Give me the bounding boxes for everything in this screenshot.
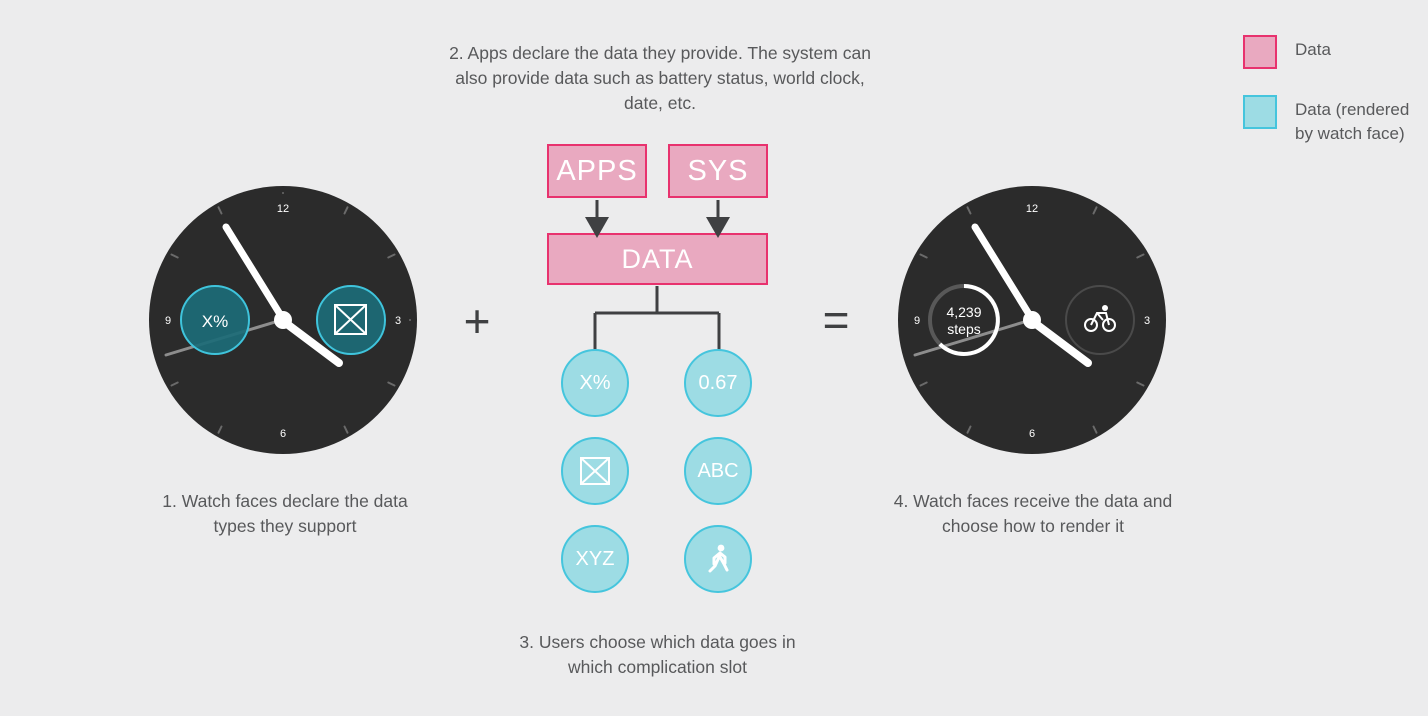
numeral-9: 9 <box>914 315 920 327</box>
numeral-6: 6 <box>280 428 286 440</box>
data-bubble-shorttext[interactable]: XYZ <box>561 525 629 593</box>
numeral-12: 12 <box>277 203 289 215</box>
complication-left-label: X% <box>202 312 228 331</box>
running-person-icon <box>705 544 731 574</box>
steps-unit: steps <box>947 321 980 337</box>
numeral-9: 9 <box>165 315 171 327</box>
numeral-3: 3 <box>395 315 401 327</box>
data-bubble-shorttext-label: XYZ <box>576 548 615 571</box>
data-bubble-percent[interactable]: X% <box>561 349 629 417</box>
data-bubble-text-label: ABC <box>697 460 738 483</box>
flow-box-sys: SYS <box>668 144 768 198</box>
data-bubble-text[interactable]: ABC <box>684 437 752 505</box>
equals-operator: = <box>806 297 866 343</box>
data-bubble-image[interactable] <box>561 437 629 505</box>
legend-label-data: Data <box>1295 35 1331 62</box>
caption-step-3: 3. Users choose which data goes in which… <box>505 630 810 680</box>
watch-face-right: 12 3 6 9 4,239 steps <box>897 185 1167 455</box>
flow-box-data: DATA <box>547 233 768 285</box>
caption-step-4: 4. Watch faces receive the data and choo… <box>888 489 1178 539</box>
image-placeholder-icon <box>580 457 610 485</box>
legend-item-data: Data <box>1243 35 1428 69</box>
numeral-3: 3 <box>1144 315 1150 327</box>
legend-swatch-pink <box>1243 35 1277 69</box>
data-bubble-activity[interactable] <box>684 525 752 593</box>
flow-box-apps: APPS <box>547 144 647 198</box>
watch-face-left: 12 3 6 9 X% <box>148 185 418 455</box>
caption-step-2: 2. Apps declare the data they provide. T… <box>440 41 880 116</box>
legend-item-data-rendered: Data (rendered by watch face) <box>1243 95 1428 146</box>
caption-step-1: 1. Watch faces declare the data types th… <box>140 489 430 539</box>
legend-label-data-rendered: Data (rendered by watch face) <box>1295 95 1428 146</box>
data-bubble-number[interactable]: 0.67 <box>684 349 752 417</box>
steps-value: 4,239 <box>946 304 981 320</box>
data-bubble-number-label: 0.67 <box>699 372 738 395</box>
legend-swatch-teal <box>1243 95 1277 129</box>
numeral-6: 6 <box>1029 428 1035 440</box>
numeral-12: 12 <box>1026 203 1038 215</box>
legend: Data Data (rendered by watch face) <box>1243 35 1428 172</box>
data-bubble-percent-label: X% <box>579 372 610 395</box>
plus-operator: + <box>447 298 507 344</box>
diagram-canvas: 2. Apps declare the data they provide. T… <box>0 0 1428 716</box>
